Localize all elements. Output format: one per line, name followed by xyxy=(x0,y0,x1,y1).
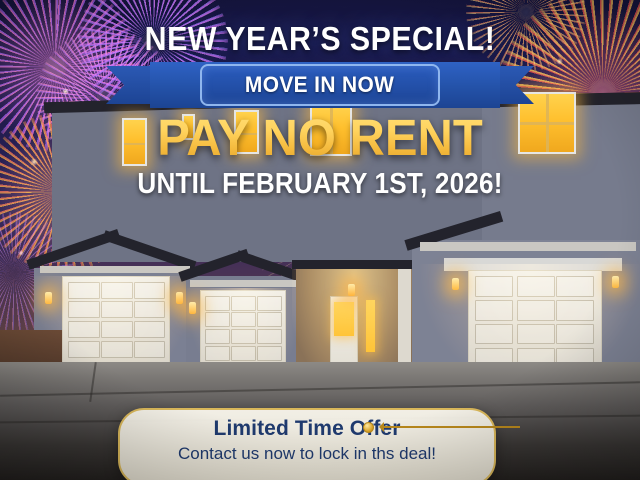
limited-time-offer-callout[interactable]: Limited Time Offer Contact us now to loc… xyxy=(118,408,496,480)
garage-door-middle xyxy=(200,290,286,370)
driveway-seam xyxy=(89,362,97,402)
page-title: NEW YEAR’S SPECIAL! xyxy=(26,20,615,58)
driveway-seam xyxy=(0,381,640,396)
soffit-right xyxy=(420,242,636,251)
sconce-light-entry xyxy=(348,284,355,296)
sconce-light-mid xyxy=(189,302,196,314)
offer-subheadline: UNTIL FEBRUARY 1ST, 2026! xyxy=(32,168,608,201)
gold-coin-icon xyxy=(363,422,374,433)
sconce-light-left-b xyxy=(176,292,183,304)
offer-headline: PAY NO RENT xyxy=(13,108,627,167)
ribbon-button[interactable]: MOVE IN NOW xyxy=(200,64,440,106)
porch-beam xyxy=(292,260,416,269)
callout-title: Limited Time Offer xyxy=(120,417,494,441)
sconce-light-right-a xyxy=(452,278,459,290)
callout-body: Contact us now to lock in ths deal! xyxy=(120,444,494,464)
ribbon-label: MOVE IN NOW xyxy=(245,72,394,98)
sidelight-window xyxy=(366,300,375,352)
soffit-left xyxy=(40,266,190,273)
left-arrow-icon xyxy=(380,426,520,428)
move-in-ribbon: MOVE IN NOW xyxy=(0,62,640,108)
garage-door-left xyxy=(62,276,170,368)
soffit-mid xyxy=(190,280,300,287)
promo-ad: NEW YEAR’S SPECIAL! MOVE IN NOW PAY NO R… xyxy=(0,0,640,480)
front-door-glass xyxy=(334,302,354,336)
sconce-light-right-b xyxy=(612,276,619,288)
sconce-light-left-a xyxy=(45,292,52,304)
